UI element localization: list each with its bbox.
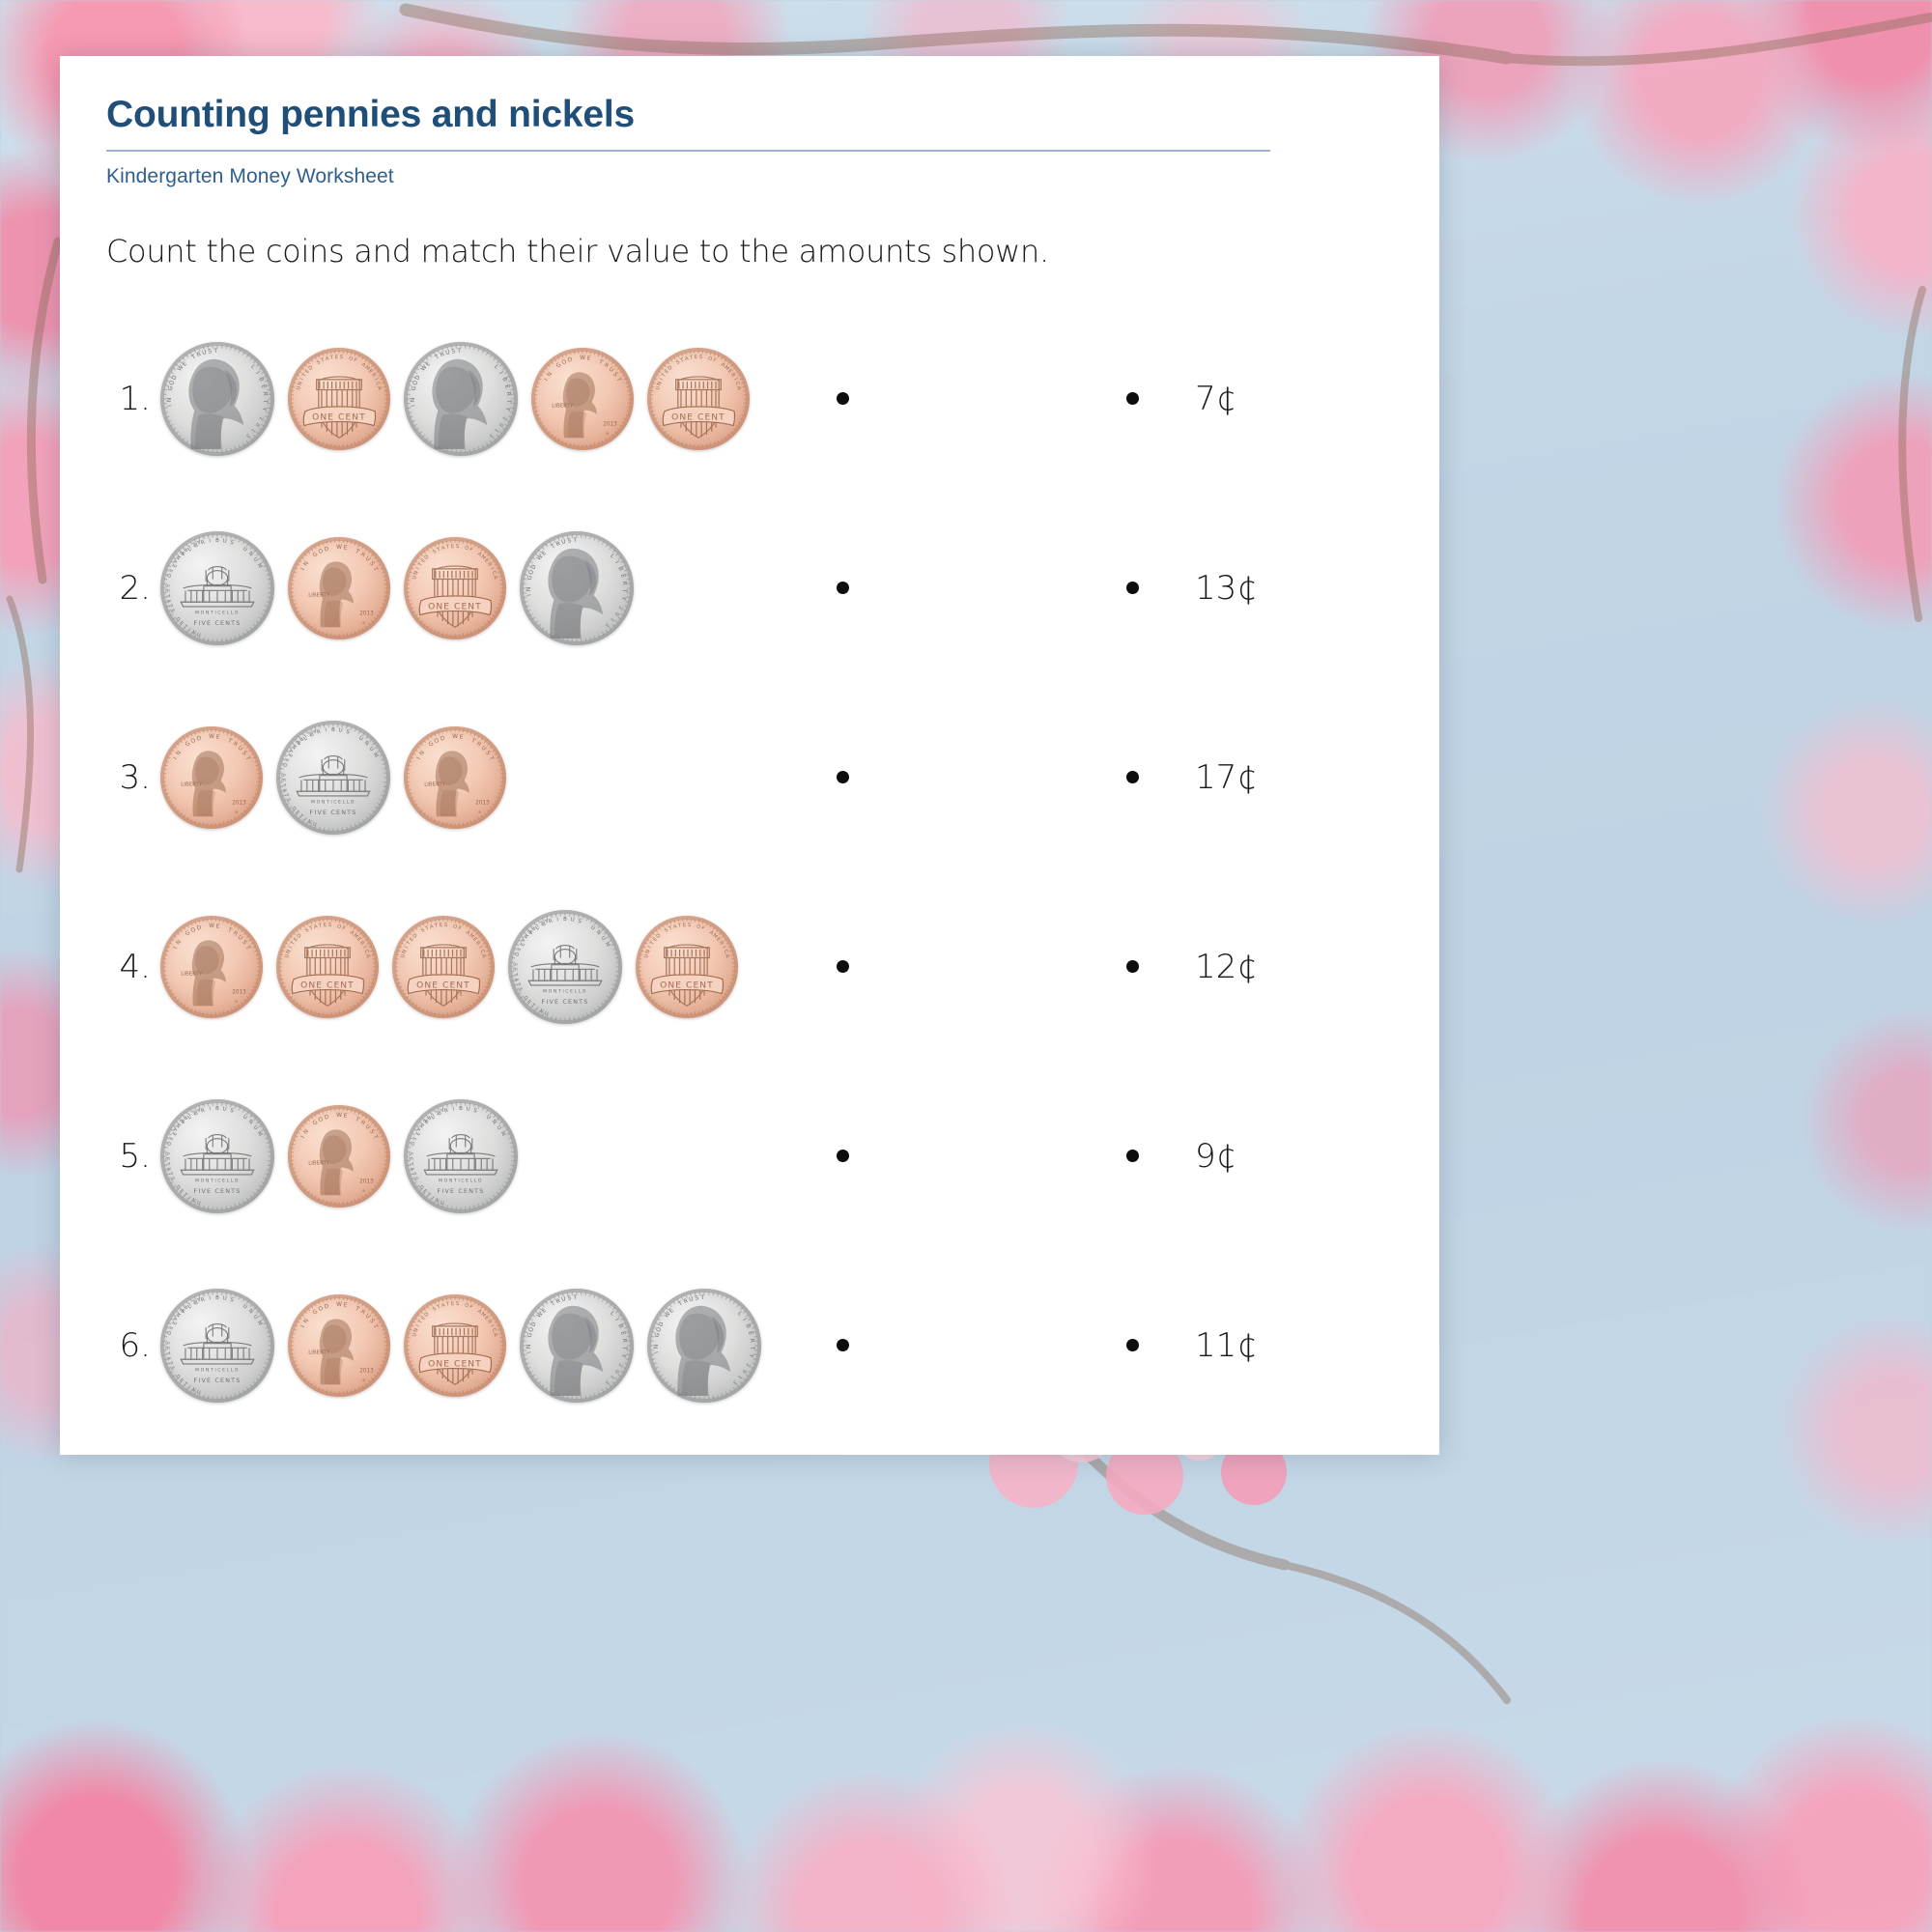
- svg-text:U: U: [544, 1010, 550, 1017]
- svg-text:F: F: [469, 547, 473, 554]
- svg-text:B: B: [478, 810, 481, 814]
- svg-text:T: T: [434, 923, 440, 929]
- match-dot-left[interactable]: [837, 1339, 849, 1351]
- svg-text:2013: 2013: [359, 1179, 374, 1184]
- svg-text:T: T: [371, 1322, 380, 1330]
- svg-text:I: I: [543, 377, 550, 382]
- svg-text:N: N: [657, 381, 664, 386]
- svg-text:S: S: [164, 1341, 170, 1345]
- svg-text:S: S: [340, 355, 344, 360]
- svg-text:M: M: [372, 752, 380, 758]
- problem-number: 4.: [106, 948, 160, 986]
- svg-text:S: S: [456, 544, 460, 550]
- svg-text:T: T: [677, 923, 683, 929]
- nickel-coin-jefferson-obverse-icon: IN GOD WE TRUST LIBERTY 2013: [647, 1289, 761, 1403]
- svg-text:MONTICELLO: MONTICELLO: [439, 1178, 483, 1183]
- svg-text:2013: 2013: [359, 1368, 374, 1374]
- match-dot-right[interactable]: [1126, 392, 1139, 405]
- nickel-coin-monticello-reverse-icon: E PLURIBUS UNUM UNITED STATES OF AMERICA…: [404, 1099, 518, 1213]
- svg-text:A: A: [519, 937, 526, 944]
- svg-text:E: E: [451, 544, 455, 550]
- svg-text:S: S: [328, 923, 332, 928]
- svg-text:S: S: [408, 1151, 413, 1155]
- svg-text:D: D: [658, 1321, 666, 1327]
- svg-text:S: S: [164, 1151, 170, 1155]
- nickel-coin-jefferson-obverse-icon: IN GOD WE TRUST LIBERTY 2013: [160, 342, 274, 456]
- svg-text:2: 2: [616, 605, 623, 610]
- svg-text:D: D: [567, 355, 574, 363]
- svg-text:W: W: [336, 1301, 342, 1308]
- penny-coin-shield-reverse-icon: UNITED STATES OF AMERICA ONE CENT: [404, 537, 506, 639]
- svg-text:B: B: [616, 1323, 623, 1329]
- left-match-target[interactable]: [837, 771, 1126, 783]
- svg-text:A: A: [287, 748, 294, 754]
- svg-text:I: I: [741, 1318, 747, 1322]
- amount-label: 12¢: [1195, 948, 1278, 986]
- svg-text:ONE CENT: ONE CENT: [300, 981, 355, 991]
- svg-text:U: U: [252, 556, 259, 563]
- svg-text:M: M: [604, 941, 611, 948]
- svg-text:1: 1: [737, 1374, 744, 1379]
- svg-text:N: N: [286, 949, 293, 954]
- amount-label: 11¢: [1195, 1326, 1278, 1365]
- svg-text:MONTICELLO: MONTICELLO: [543, 988, 587, 994]
- svg-text:B: B: [500, 377, 507, 383]
- svg-text:1: 1: [494, 427, 500, 433]
- nickel-coin-jefferson-obverse-icon: IN GOD WE TRUST LIBERTY 2013: [404, 342, 518, 456]
- svg-text:S: S: [169, 1366, 176, 1372]
- right-match-target[interactable]: 13¢: [1126, 569, 1389, 608]
- svg-text:M: M: [256, 562, 264, 569]
- svg-text:I: I: [411, 404, 416, 407]
- svg-text:E: E: [747, 1331, 753, 1336]
- nickel-coin-monticello-reverse-icon: E PLURIBUS UNUM UNITED STATES OF AMERICA…: [160, 531, 274, 645]
- match-dot-right[interactable]: [1126, 582, 1139, 594]
- svg-text:T: T: [371, 565, 380, 573]
- svg-text:U: U: [466, 1106, 470, 1113]
- penny-coin-shield-reverse-icon: UNITED STATES OF AMERICA ONE CENT: [288, 348, 390, 450]
- svg-text:1: 1: [610, 616, 616, 622]
- svg-text:T: T: [621, 588, 627, 593]
- svg-text:I: I: [613, 560, 619, 565]
- svg-text:MONTICELLO: MONTICELLO: [195, 610, 240, 615]
- page-title: Counting pennies and nickels: [106, 95, 1389, 136]
- svg-text:A: A: [414, 1126, 421, 1133]
- svg-text:M: M: [256, 1130, 264, 1137]
- svg-text:E: E: [512, 968, 518, 972]
- svg-text:N: N: [411, 398, 416, 403]
- svg-text:R: R: [505, 391, 511, 396]
- svg-text:N: N: [302, 560, 310, 568]
- left-match-target[interactable]: [837, 392, 1126, 405]
- penny-coin-lincoln-obverse-icon: IN GOD WE TRUST LIBERTY 2013 B: [288, 1105, 390, 1207]
- svg-text:B: B: [459, 1106, 463, 1112]
- svg-text:FIVE CENTS: FIVE CENTS: [194, 619, 241, 627]
- svg-text:0: 0: [254, 421, 261, 427]
- problem-row: 1. IN GOD WE TRUST LIBERTY 2013 UNITED S…: [106, 304, 1389, 494]
- svg-text:T: T: [243, 754, 252, 762]
- svg-text:F: F: [700, 925, 705, 932]
- svg-text:L: L: [609, 1311, 615, 1318]
- svg-text:I: I: [526, 1350, 532, 1353]
- svg-text:U: U: [241, 1114, 248, 1121]
- svg-text:A: A: [492, 1332, 498, 1337]
- svg-text:B: B: [362, 1378, 365, 1382]
- match-dot-left[interactable]: [837, 392, 849, 405]
- match-dot-right[interactable]: [1126, 1150, 1139, 1162]
- svg-text:A: A: [492, 575, 498, 580]
- svg-text:S: S: [688, 923, 692, 928]
- svg-text:E: E: [215, 733, 220, 741]
- svg-text:N: N: [546, 371, 554, 379]
- right-match-target[interactable]: 12¢: [1126, 948, 1389, 986]
- svg-text:B: B: [563, 917, 567, 923]
- svg-text:2013: 2013: [232, 989, 246, 995]
- svg-text:U: U: [600, 935, 607, 942]
- svg-text:S: S: [345, 729, 351, 736]
- problem-list: 1. IN GOD WE TRUST LIBERTY 2013 UNITED S…: [106, 304, 1389, 1440]
- svg-text:O: O: [513, 952, 520, 956]
- svg-text:B: B: [606, 431, 609, 436]
- svg-text:A: A: [171, 1316, 178, 1322]
- svg-text:I: I: [167, 404, 173, 407]
- penny-coin-shield-reverse-icon: UNITED STATES OF AMERICA ONE CENT: [392, 916, 495, 1018]
- penny-coin-shield-reverse-icon: UNITED STATES OF AMERICA ONE CENT: [404, 1294, 506, 1397]
- svg-text:U: U: [570, 917, 575, 923]
- svg-text:S: S: [699, 355, 703, 360]
- svg-text:I: I: [299, 1323, 306, 1328]
- svg-text:FIVE CENTS: FIVE CENTS: [194, 1187, 241, 1195]
- svg-text:F: F: [457, 925, 462, 932]
- svg-text:E: E: [164, 1157, 170, 1161]
- svg-text:S: S: [451, 349, 456, 355]
- problem-number: 6.: [106, 1326, 160, 1365]
- svg-text:U: U: [241, 546, 248, 553]
- svg-text:N: N: [413, 570, 420, 576]
- svg-text:N: N: [526, 1345, 532, 1350]
- nickel-coin-jefferson-obverse-icon: IN GOD WE TRUST LIBERTY 2013: [520, 1289, 634, 1403]
- svg-text:W: W: [580, 355, 585, 361]
- svg-text:I: I: [209, 1106, 212, 1112]
- svg-text:E: E: [280, 779, 286, 782]
- svg-text:2: 2: [744, 1362, 751, 1367]
- svg-text:O: O: [409, 1141, 415, 1146]
- left-match-target[interactable]: [837, 582, 1126, 594]
- svg-text:E: E: [343, 1301, 348, 1309]
- svg-text:T: T: [243, 944, 252, 952]
- svg-text:L: L: [736, 1311, 743, 1318]
- svg-text:3: 3: [604, 621, 610, 628]
- svg-text:N: N: [247, 1119, 254, 1125]
- svg-text:B: B: [235, 810, 238, 814]
- svg-text:0: 0: [613, 611, 620, 616]
- svg-text:T: T: [487, 754, 496, 762]
- svg-text:F: F: [712, 357, 717, 364]
- coin-group: IN GOD WE TRUST LIBERTY 2013 B UNITED ST…: [160, 910, 837, 1024]
- svg-text:N: N: [175, 939, 183, 947]
- svg-text:T: T: [699, 1295, 704, 1301]
- nickel-coin-monticello-reverse-icon: E PLURIBUS UNUM UNITED STATES OF AMERICA…: [508, 910, 622, 1024]
- svg-text:I: I: [613, 1318, 619, 1322]
- penny-coin-shield-reverse-icon: UNITED STATES OF AMERICA ONE CENT: [276, 916, 379, 1018]
- svg-text:T: T: [456, 349, 461, 355]
- svg-text:FIVE CENTS: FIVE CENTS: [310, 809, 357, 816]
- svg-text:R: R: [262, 391, 268, 396]
- svg-text:F: F: [341, 925, 346, 932]
- svg-text:S: S: [517, 987, 524, 993]
- svg-text:T: T: [445, 1301, 451, 1308]
- svg-text:E: E: [343, 1112, 348, 1120]
- svg-text:T: T: [614, 376, 623, 384]
- svg-text:E: E: [451, 1301, 455, 1307]
- svg-text:2: 2: [500, 415, 507, 420]
- svg-text:U: U: [440, 1200, 445, 1207]
- svg-text:T: T: [621, 1346, 627, 1350]
- svg-text:I: I: [209, 538, 212, 544]
- svg-text:S: S: [472, 1108, 478, 1115]
- svg-text:A: A: [724, 953, 730, 958]
- svg-text:D: D: [171, 374, 179, 381]
- svg-text:S: S: [169, 1177, 176, 1182]
- match-dot-right[interactable]: [1126, 771, 1139, 783]
- svg-text:L: L: [609, 554, 615, 560]
- svg-text:S: S: [229, 1297, 235, 1304]
- svg-text:I: I: [254, 371, 260, 376]
- svg-text:U: U: [222, 538, 227, 545]
- svg-text:N: N: [491, 1119, 497, 1125]
- right-match-target[interactable]: 17¢: [1126, 758, 1389, 797]
- svg-text:E: E: [343, 544, 348, 552]
- problem-number: 2.: [106, 569, 160, 608]
- svg-text:ONE CENT: ONE CENT: [428, 1360, 482, 1370]
- match-dot-right[interactable]: [1126, 960, 1139, 973]
- svg-text:U: U: [252, 1314, 259, 1321]
- svg-text:Y: Y: [620, 595, 627, 601]
- svg-text:1: 1: [610, 1374, 616, 1379]
- svg-text:FIVE CENTS: FIVE CENTS: [194, 1377, 241, 1384]
- nickel-coin-jefferson-obverse-icon: IN GOD WE TRUST LIBERTY 2013: [520, 531, 634, 645]
- svg-text:I: I: [299, 1134, 306, 1139]
- svg-text:E: E: [586, 355, 591, 362]
- svg-text:S: S: [567, 1295, 572, 1302]
- svg-text:W: W: [336, 544, 342, 551]
- svg-text:Y: Y: [504, 406, 511, 412]
- match-dot-left[interactable]: [837, 771, 849, 783]
- svg-text:I: I: [415, 755, 422, 760]
- svg-text:A: A: [364, 953, 371, 958]
- match-dot-left[interactable]: [837, 582, 849, 594]
- svg-text:S: S: [164, 583, 170, 587]
- svg-text:E: E: [335, 355, 339, 360]
- svg-text:Y: Y: [748, 1352, 754, 1358]
- amount-label: 9¢: [1195, 1137, 1278, 1176]
- right-match-target[interactable]: 7¢: [1126, 380, 1389, 418]
- svg-text:B: B: [257, 377, 264, 383]
- svg-text:N: N: [175, 750, 183, 757]
- svg-text:T: T: [213, 349, 217, 355]
- svg-text:N: N: [247, 551, 254, 557]
- match-dot-left[interactable]: [837, 1150, 849, 1162]
- svg-text:T: T: [329, 355, 335, 361]
- svg-text:T: T: [371, 1133, 380, 1141]
- svg-text:S: S: [577, 919, 582, 925]
- right-match-target[interactable]: 11¢: [1126, 1326, 1389, 1365]
- svg-text:D: D: [414, 374, 422, 381]
- svg-text:A: A: [480, 953, 487, 958]
- amount-label: 17¢: [1195, 758, 1278, 797]
- match-dot-left[interactable]: [837, 960, 849, 973]
- svg-text:I: I: [556, 917, 559, 923]
- svg-text:U: U: [196, 1389, 202, 1396]
- svg-text:U: U: [561, 1296, 567, 1303]
- svg-text:D: D: [530, 1321, 538, 1327]
- svg-text:R: R: [621, 1338, 627, 1343]
- svg-text:D: D: [324, 1302, 330, 1310]
- svg-text:3: 3: [731, 1378, 737, 1385]
- penny-coin-lincoln-obverse-icon: IN GOD WE TRUST LIBERTY 2013 B: [288, 1294, 390, 1397]
- svg-text:U: U: [222, 1106, 227, 1113]
- svg-text:B: B: [744, 1323, 751, 1329]
- left-match-target[interactable]: [837, 1150, 1126, 1162]
- svg-text:E: E: [459, 733, 464, 741]
- svg-text:U: U: [252, 1124, 259, 1131]
- svg-text:S: S: [285, 798, 292, 804]
- problem-row: 2. E PLURIBUS UNUM UNITED STATES OF AMER…: [106, 494, 1389, 683]
- penny-coin-lincoln-obverse-icon: IN GOD WE TRUST LIBERTY 2013 B: [404, 726, 506, 829]
- svg-text:U: U: [445, 350, 451, 356]
- nickel-coin-monticello-reverse-icon: E PLURIBUS UNUM UNITED STATES OF AMERICA…: [160, 1099, 274, 1213]
- svg-text:D: D: [324, 1113, 330, 1121]
- page-subtitle: Kindergarten Money Worksheet: [106, 165, 1389, 188]
- right-match-target[interactable]: 9¢: [1126, 1137, 1389, 1176]
- svg-text:2013: 2013: [475, 800, 490, 806]
- left-match-target[interactable]: [837, 1339, 1126, 1351]
- svg-text:N: N: [302, 1128, 310, 1136]
- svg-text:I: I: [172, 755, 179, 760]
- svg-text:N: N: [402, 949, 409, 954]
- svg-text:I: I: [497, 371, 503, 376]
- svg-text:2013: 2013: [359, 611, 374, 616]
- svg-text:ONE CENT: ONE CENT: [660, 981, 714, 991]
- svg-text:N: N: [363, 740, 370, 747]
- svg-text:S: S: [456, 1301, 460, 1307]
- nickel-coin-monticello-reverse-icon: E PLURIBUS UNUM UNITED STATES OF AMERICA…: [276, 721, 390, 835]
- problem-row: 3. IN GOD WE TRUST LIBERTY 2013 B E PLUR…: [106, 683, 1389, 872]
- svg-text:E: E: [164, 589, 170, 593]
- svg-text:L: L: [493, 364, 499, 371]
- svg-text:S: S: [567, 538, 572, 545]
- svg-text:U: U: [496, 1124, 502, 1131]
- svg-text:U: U: [689, 1296, 695, 1303]
- svg-text:B: B: [235, 999, 238, 1004]
- penny-coin-lincoln-obverse-icon: IN GOD WE TRUST LIBERTY 2013 B: [531, 348, 634, 450]
- svg-text:L: L: [249, 364, 256, 371]
- svg-text:O: O: [165, 1330, 172, 1335]
- penny-coin-lincoln-obverse-icon: IN GOD WE TRUST LIBERTY 2013 B: [160, 916, 263, 1018]
- svg-text:0: 0: [613, 1368, 620, 1374]
- svg-text:R: R: [749, 1338, 754, 1343]
- svg-text:E: E: [695, 355, 698, 360]
- penny-coin-lincoln-obverse-icon: IN GOD WE TRUST LIBERTY 2013 B: [160, 726, 263, 829]
- coin-group: E PLURIBUS UNUM UNITED STATES OF AMERICA…: [160, 531, 837, 645]
- svg-text:T: T: [572, 1295, 577, 1301]
- svg-text:D: D: [440, 734, 446, 742]
- svg-text:S: S: [169, 609, 176, 614]
- left-match-target[interactable]: [837, 960, 1126, 973]
- problem-row: 4. IN GOD WE TRUST LIBERTY 2013 B UNITED…: [106, 872, 1389, 1062]
- penny-coin-shield-reverse-icon: UNITED STATES OF AMERICA ONE CENT: [636, 916, 738, 1018]
- svg-text:T: T: [505, 399, 511, 404]
- svg-text:U: U: [202, 350, 208, 356]
- svg-text:E: E: [683, 923, 687, 928]
- svg-text:N: N: [298, 381, 304, 386]
- svg-text:F: F: [469, 1304, 473, 1311]
- svg-text:S: S: [444, 923, 448, 928]
- svg-text:T: T: [689, 355, 695, 361]
- problem-row: 5. E PLURIBUS UNUM UNITED STATES OF AMER…: [106, 1062, 1389, 1251]
- svg-text:2013: 2013: [603, 421, 617, 427]
- svg-text:MONTICELLO: MONTICELLO: [311, 799, 355, 805]
- svg-text:S: S: [512, 962, 518, 966]
- svg-text:D: D: [530, 563, 538, 570]
- problem-number: 1.: [106, 380, 160, 418]
- svg-text:3: 3: [604, 1378, 610, 1385]
- svg-text:S: S: [412, 1177, 419, 1182]
- svg-text:U: U: [196, 1200, 202, 1207]
- svg-text:0: 0: [741, 1368, 748, 1374]
- svg-text:I: I: [172, 945, 179, 950]
- svg-text:I: I: [654, 1350, 660, 1353]
- amount-label: 7¢: [1195, 380, 1278, 418]
- svg-text:I: I: [325, 727, 327, 733]
- svg-text:S: S: [229, 540, 235, 547]
- svg-text:T: T: [445, 544, 451, 551]
- svg-text:R: R: [621, 581, 627, 585]
- coin-group: IN GOD WE TRUST LIBERTY 2013 B E PLURIBU…: [160, 721, 837, 835]
- svg-text:S: S: [208, 349, 213, 355]
- svg-text:N: N: [654, 1345, 660, 1350]
- svg-text:N: N: [645, 949, 652, 954]
- svg-text:U: U: [196, 632, 202, 639]
- svg-text:2013: 2013: [232, 800, 246, 806]
- svg-text:N: N: [302, 1318, 310, 1325]
- svg-text:N: N: [413, 1327, 420, 1333]
- svg-text:B: B: [616, 566, 623, 572]
- svg-text:T: T: [572, 538, 577, 544]
- svg-text:E: E: [503, 384, 510, 389]
- svg-text:B: B: [215, 1295, 219, 1301]
- svg-text:B: B: [331, 727, 335, 733]
- svg-text:A: A: [735, 385, 742, 390]
- svg-text:W: W: [336, 1112, 342, 1119]
- svg-text:0: 0: [497, 421, 504, 427]
- svg-text:A: A: [171, 558, 178, 565]
- svg-text:E: E: [324, 923, 327, 928]
- problem-row: 6. E PLURIBUS UNUM UNITED STATES OF AMER…: [106, 1251, 1389, 1440]
- svg-text:E: E: [260, 384, 267, 389]
- amount-label: 13¢: [1195, 569, 1278, 608]
- match-dot-right[interactable]: [1126, 1339, 1139, 1351]
- svg-text:I: I: [299, 566, 306, 571]
- svg-text:U: U: [589, 924, 596, 931]
- svg-text:N: N: [247, 1308, 254, 1315]
- svg-text:M: M: [499, 1130, 507, 1137]
- svg-text:I: I: [526, 593, 532, 596]
- svg-text:N: N: [595, 929, 602, 936]
- svg-text:D: D: [196, 734, 203, 742]
- svg-text:ONE CENT: ONE CENT: [671, 413, 725, 423]
- svg-text:T: T: [318, 923, 324, 929]
